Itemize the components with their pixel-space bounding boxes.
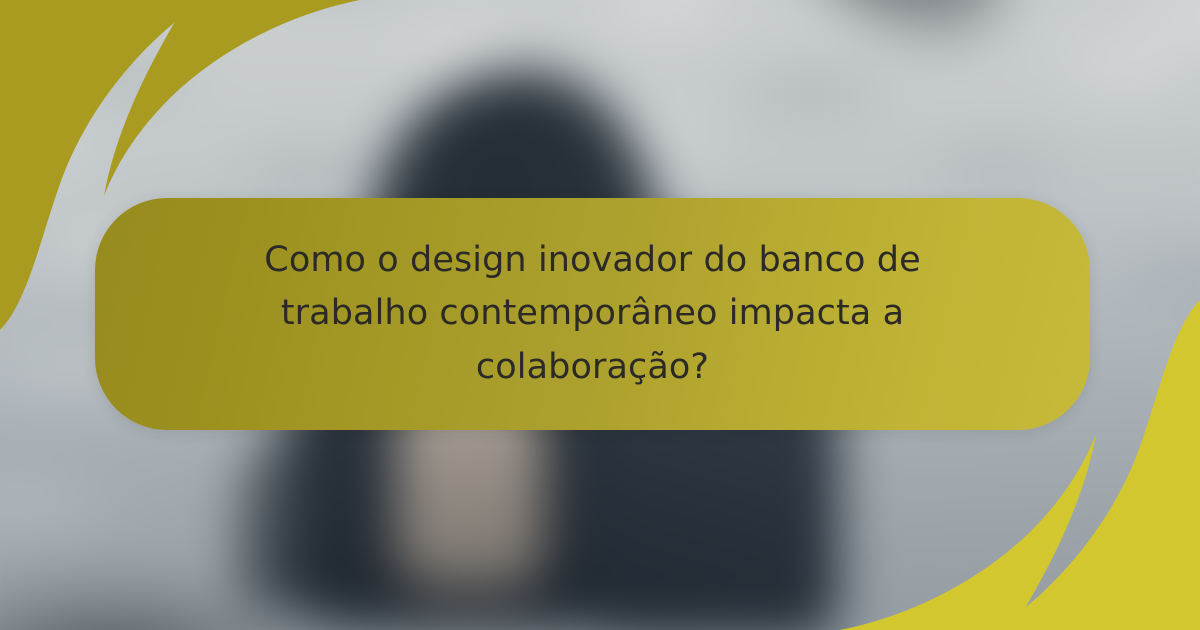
background-ground-shadow: [0, 570, 320, 630]
question-card: Como o design inovador do banco de traba…: [95, 198, 1090, 430]
question-text: Como o design inovador do banco de traba…: [208, 234, 978, 394]
share-card-canvas: Como o design inovador do banco de traba…: [0, 0, 1200, 630]
